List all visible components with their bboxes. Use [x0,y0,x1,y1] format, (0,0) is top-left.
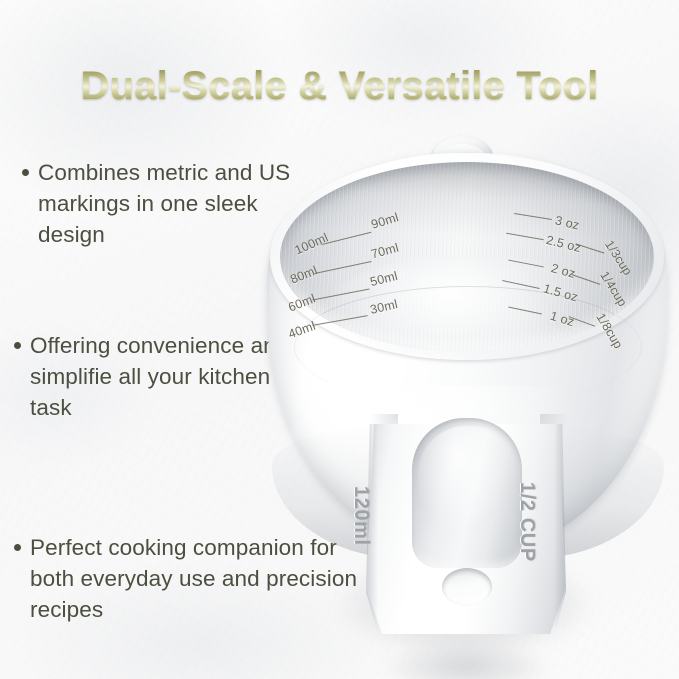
tick-mark [514,213,552,220]
tick-mark [508,306,541,314]
mark-label-1oz: 1 oz [548,309,575,330]
mark-label-2oz: 2 oz [550,261,577,281]
bullet-dot-icon [22,169,29,176]
mark-label-40ml: 40ml [286,319,317,342]
mark-label-90ml: 90ml [370,210,401,232]
handle-us-label: 1/2 CUP [515,482,538,562]
handle-hanging-hole [442,568,492,606]
bullet-dot-icon [14,544,21,551]
measuring-cup-image: 100ml 90ml 80ml 70ml 60ml 50ml 40ml 30ml… [258,136,679,652]
tick-mark [508,260,544,268]
tick-mark [502,280,539,289]
mark-label-70ml: 70ml [370,241,401,262]
handle-edge-right [554,424,566,634]
mark-label-100ml: 100ml [293,230,331,257]
tick-mark [312,288,369,300]
bullet-dot-icon [14,342,21,349]
product-marketing-image: Dual-Scale & Versatile Tool Combines met… [0,0,679,679]
tick-mark [315,261,372,274]
mark-label-60ml: 60ml [286,291,317,314]
mark-label-80ml: 80ml [288,263,319,286]
handle-metric-label: 120ml [349,486,372,546]
tick-mark [506,233,544,241]
mark-label-1_5oz: 1.5 oz [542,281,580,304]
mark-label-30ml: 30ml [369,297,399,317]
tick-mark [312,315,367,326]
cup-handle: 120ml 1/2 CUP [366,424,566,652]
mark-label-50ml: 50ml [369,269,399,289]
mark-label-3oz: 3 oz [554,213,581,232]
handle-recess-highlight [418,426,516,558]
mark-label-1-8cup: 1/8cup [593,311,625,351]
